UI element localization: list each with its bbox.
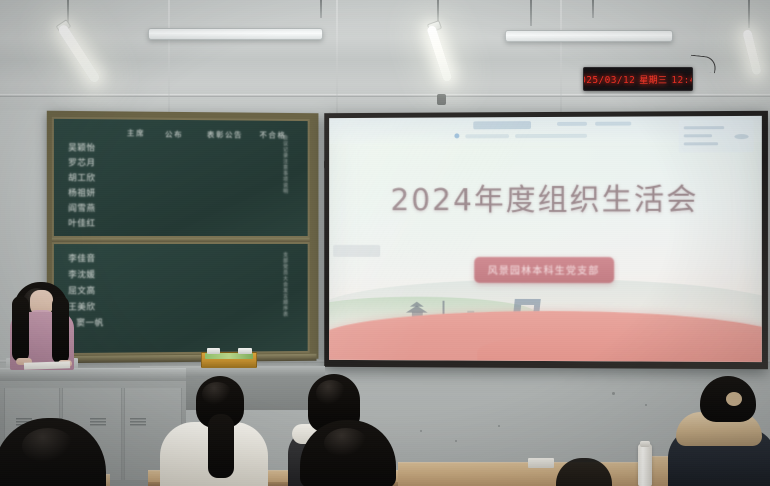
audience-4-hair-sheen [324, 428, 368, 458]
chrome-side-panel [679, 120, 754, 153]
audience-1-hair-sheen [22, 428, 74, 464]
audience-2-hair-sheen [202, 382, 232, 406]
led-time: 12:41 [671, 75, 693, 86]
chrome-status-line-1 [465, 134, 509, 138]
eraser-1 [207, 348, 220, 354]
blackboard-panel-bottom: 李佳音 李沈媛 屈文高 王美欣 窦一帆 支部党员大会发言顺序表 [52, 242, 310, 355]
blackboard-lower-name-2: 屈文高 [68, 284, 95, 296]
classroom-scene: 2025/03/12 星期三 12:41 主席 公布 表彰公告 不合格 吴颖怡 … [0, 0, 770, 486]
audience-2-ponytail [208, 414, 234, 478]
audience-5-hair-tie [726, 392, 742, 406]
blackboard-panel-top: 主席 公布 表彰公告 不合格 吴颖怡 罗芯月 胡工欣 杨祖妍 阎雪燕 叶佳红 会… [52, 117, 310, 238]
podium-vent-3 [90, 418, 106, 427]
wall-mark-4 [455, 440, 457, 442]
projection-screen-frame: 2024年度组织生活会 风景园林本科生党支部 [324, 111, 768, 369]
audience-3-hair-sheen [316, 380, 346, 406]
blackboard-header-0: 主席 [127, 128, 145, 139]
led-date: 2025/03/12 [583, 75, 635, 86]
wall-upper [0, 0, 770, 120]
chrome-panel-avatar [734, 134, 748, 139]
wall-joint-2 [336, 0, 338, 130]
slide-corner-card [333, 245, 380, 257]
slide-app-chrome [329, 116, 762, 144]
chrome-status-dot [454, 133, 459, 138]
blackboard-lower-name-1: 李沈媛 [68, 268, 95, 280]
chrome-panel-row-1 [684, 126, 725, 129]
blackboard-lower-name-4: 窦一帆 [76, 316, 103, 328]
blackboard: 主席 公布 表彰公告 不合格 吴颖怡 罗芯月 胡工欣 杨祖妍 阎雪燕 叶佳红 会… [47, 111, 319, 362]
blackboard-vertical-note-bottom: 支部党员大会发言顺序表 [282, 252, 289, 333]
light-cord-4 [530, 0, 532, 26]
wall-mark-3 [420, 430, 422, 432]
blackboard-lower-name-0: 李佳音 [68, 252, 95, 264]
blackboard-name-2: 胡工欣 [68, 171, 95, 183]
led-scrolling-clock: 2025/03/12 星期三 12:41 [583, 67, 693, 91]
led-weekday: 星期三 [639, 73, 667, 86]
wall-seam-upper [0, 94, 770, 97]
slide-title: 2024年度组织生活会 [329, 174, 762, 219]
wall-mark-6 [612, 392, 615, 395]
presenter-hair-left [12, 296, 29, 362]
blackboard-name-3: 杨祖妍 [68, 187, 95, 199]
blackboard-name-4: 阎雪燕 [68, 202, 95, 214]
blackboard-header-3: 不合格 [259, 130, 286, 141]
wall-mark-7 [645, 404, 647, 406]
blackboard-vertical-note-top: 会议记录注意事项说明 [282, 135, 289, 205]
blackboard-name-0: 吴颖怡 [68, 141, 95, 153]
blackboard-header-1: 公布 [165, 129, 183, 140]
chrome-panel-row-3 [684, 142, 718, 145]
light-cord-2 [320, 0, 322, 18]
thermos-cap [640, 441, 650, 447]
chrome-panel-row-2 [684, 134, 712, 137]
chrome-status-line-2 [515, 134, 587, 138]
desk-paper-item [528, 458, 554, 468]
blackboard-name-5: 叶佳红 [68, 217, 95, 229]
wall-mark-5 [498, 425, 500, 427]
podium-vent-4 [130, 418, 146, 427]
slide-subtitle-badge: 风景园林本科生党支部 [474, 257, 614, 283]
blackboard-name-1: 罗芯月 [68, 156, 95, 168]
light-cord-5 [748, 0, 750, 28]
ceiling-light-2 [148, 28, 323, 40]
chrome-tab-line-2 [595, 122, 631, 126]
blackboard-header-2: 表彰公告 [207, 129, 243, 140]
blackboard-lower-name-3: 王美欣 [68, 300, 95, 312]
light-cord-2b [592, 0, 594, 18]
ceiling-light-4 [505, 30, 673, 42]
wall-camera [437, 94, 446, 105]
white-thermos-bottle [638, 444, 652, 486]
chrome-tab-line-1 [557, 122, 587, 126]
chrome-address-pill [473, 121, 531, 129]
presentation-slide[interactable]: 2024年度组织生活会 风景园林本科生党支部 [329, 116, 762, 362]
wall-joint-1 [168, 0, 170, 130]
wall-joint-3 [560, 0, 562, 130]
presenter-hair-right [52, 296, 69, 364]
eraser-2 [238, 348, 252, 354]
